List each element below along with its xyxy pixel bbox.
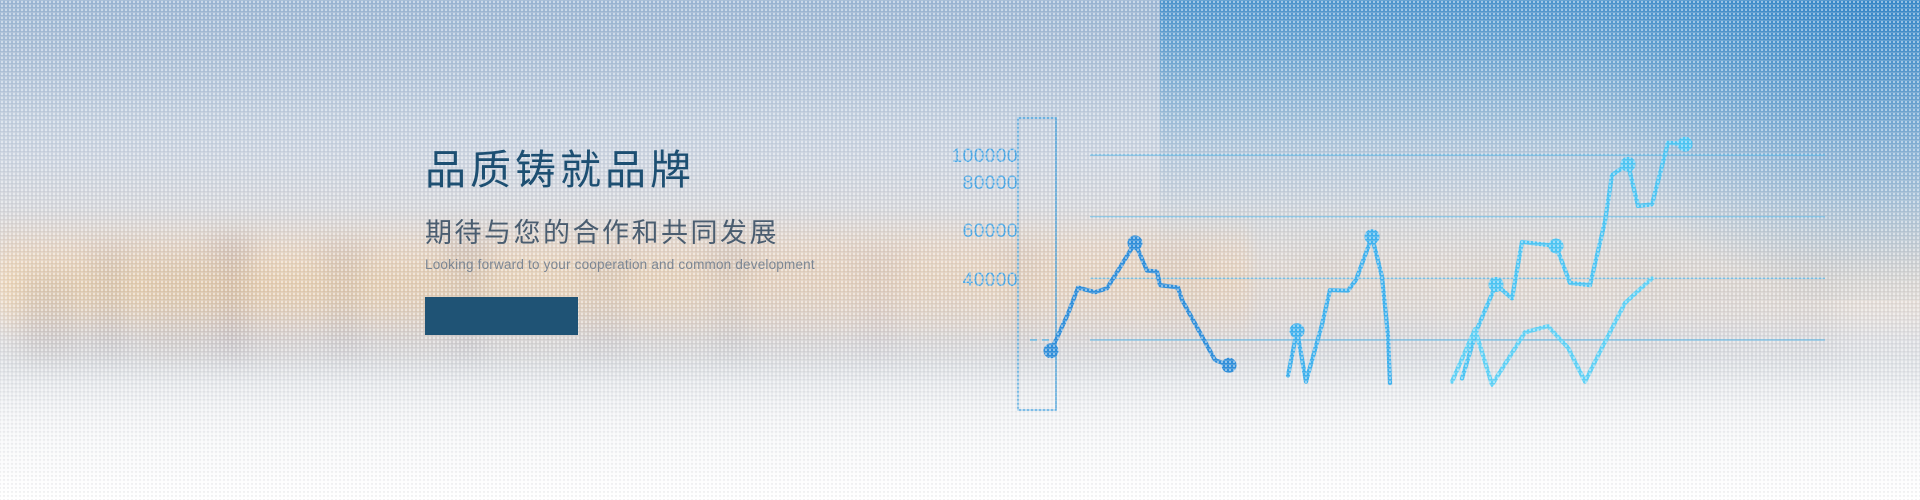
subtitle-cn: 期待与您的合作和共同发展 xyxy=(425,220,945,247)
cta-button[interactable] xyxy=(425,297,578,335)
hero-copy-block: 品质铸就品牌 期待与您的合作和共同发展 Looking forward to y… xyxy=(425,150,945,335)
page-title: 品质铸就品牌 xyxy=(425,150,945,191)
scanline-overlay xyxy=(0,0,1920,500)
hero-banner: 100000 80000 60000 40000 品质铸就品牌 期待与您的合作和… xyxy=(0,0,1920,500)
subtitle-en: Looking forward to your cooperation and … xyxy=(425,258,945,272)
